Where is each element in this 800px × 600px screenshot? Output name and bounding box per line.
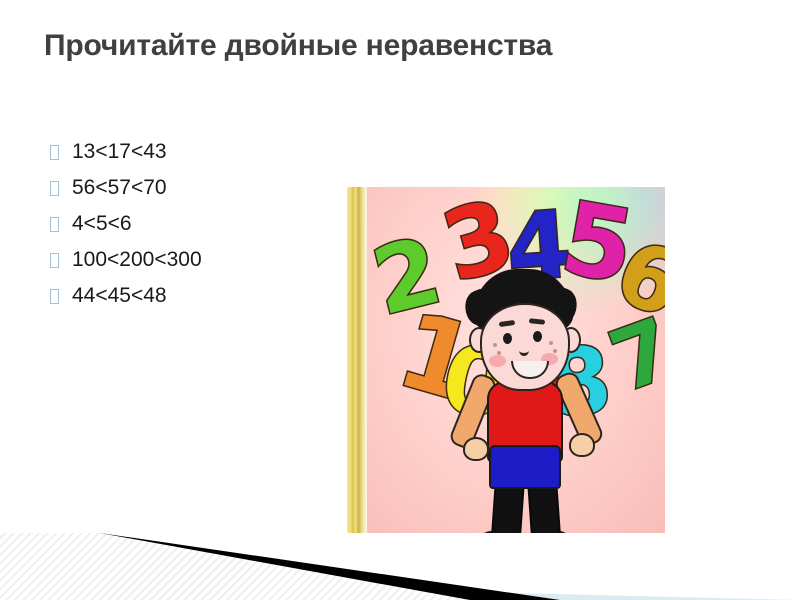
list-item-label: 4<5<6: [72, 206, 340, 242]
list-item-label: 44<45<48: [72, 278, 340, 314]
eye-left: [503, 333, 512, 344]
slide: Прочитайте двойные неравенства 13<17<43 …: [0, 0, 800, 600]
illustration-content: 2 3 4 5 6 1 0 9 8 7: [367, 187, 665, 533]
list-item-label: 13<17<43: [72, 134, 340, 170]
cheek-left: [489, 355, 506, 367]
list-item-label: 100<200<300: [72, 242, 340, 278]
list-item: 100<200<300: [50, 242, 340, 278]
list-item: 4<5<6: [50, 206, 340, 242]
list-item: 13<17<43: [50, 134, 340, 170]
nose: [519, 345, 529, 356]
bullet-box-icon: [50, 289, 59, 304]
hand-right: [569, 433, 595, 457]
shorts: [489, 445, 561, 489]
slide-decoration: [0, 520, 800, 600]
freckle: [553, 349, 557, 353]
boy-character-icon: [463, 269, 583, 519]
freckle: [493, 343, 497, 347]
bullet-box-icon: [50, 145, 59, 160]
inequality-list: 13<17<43 56<57<70 4<5<6 100<200<300 44<4…: [50, 134, 340, 314]
bullet-box-icon: [50, 181, 59, 196]
freckle: [549, 341, 553, 345]
illustration-boy-with-numbers: 2 3 4 5 6 1 0 9 8 7: [345, 187, 665, 533]
list-item: 56<57<70: [50, 170, 340, 206]
freckle: [497, 351, 501, 355]
bullet-box-icon: [50, 217, 59, 232]
list-item-label: 56<57<70: [72, 170, 340, 206]
eye-right: [533, 331, 542, 342]
page-title: Прочитайте двойные неравенства: [44, 26, 584, 66]
hand-left: [463, 437, 489, 461]
decoration-band-stripes: [0, 533, 470, 600]
list-item: 44<45<48: [50, 278, 340, 314]
bullet-box-icon: [50, 253, 59, 268]
